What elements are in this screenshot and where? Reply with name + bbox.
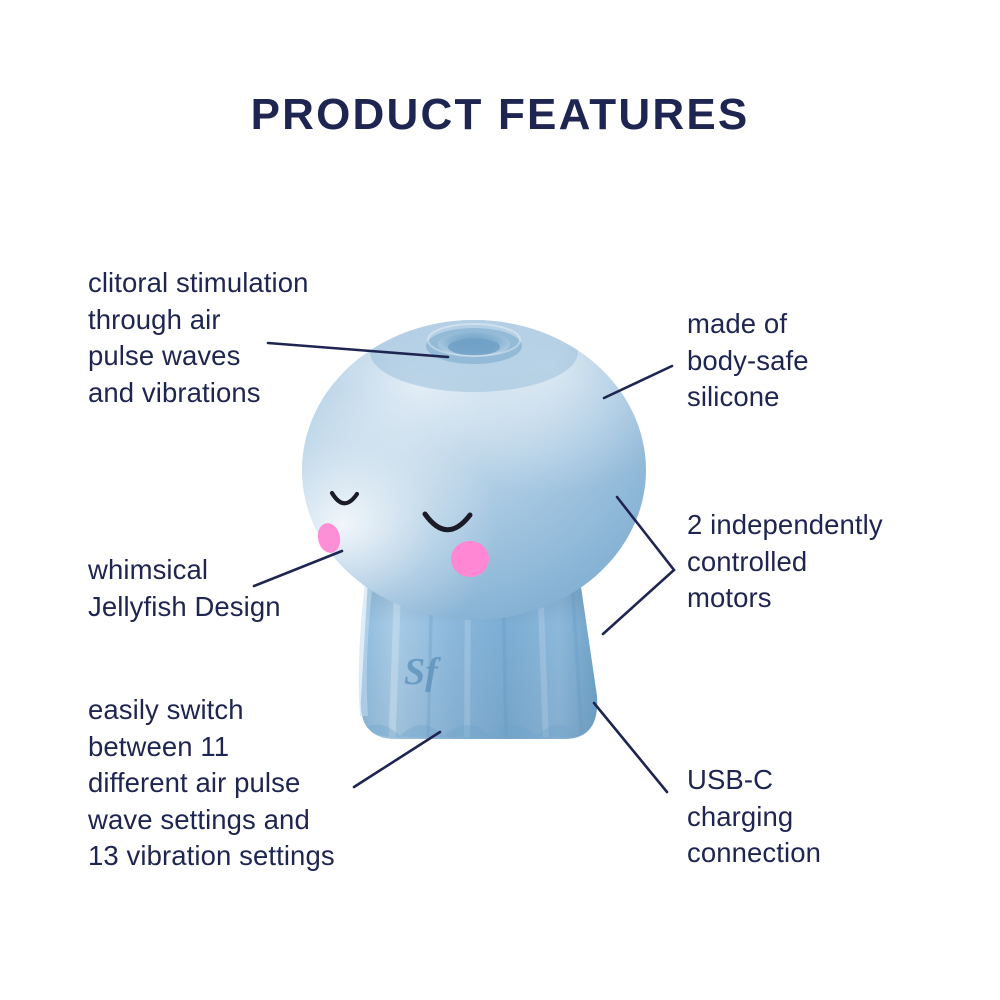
- feature-line: charging: [687, 799, 821, 836]
- brand-mark-sf: Sf: [404, 651, 441, 693]
- feature-line: 2 independently: [687, 507, 883, 544]
- air-pulse-nozzle: [426, 324, 522, 364]
- cheek-right: [451, 541, 489, 577]
- brand-mark-label: Sf: [404, 651, 441, 693]
- feature-line: made of: [687, 306, 809, 343]
- feature-line: and vibrations: [88, 375, 309, 412]
- feature-label-motors: 2 independently controlled motors: [687, 507, 883, 617]
- feature-line: wave settings and: [88, 802, 335, 839]
- feature-line: connection: [687, 835, 821, 872]
- feature-label-air-pulse: clitoral stimulation through air pulse w…: [88, 265, 309, 411]
- feature-line: Jellyfish Design: [88, 589, 281, 626]
- leader-line-settings: [354, 732, 440, 787]
- product-features-infographic: PRODUCT FEATURES: [0, 0, 1000, 1000]
- feature-line: through air: [88, 302, 309, 339]
- feature-line: pulse waves: [88, 338, 309, 375]
- feature-line: silicone: [687, 379, 809, 416]
- feature-line: whimsical: [88, 552, 281, 589]
- product-dome: [302, 312, 646, 620]
- feature-line: controlled: [687, 544, 883, 581]
- leader-line-silicone: [604, 366, 672, 398]
- feature-line: USB-C: [687, 762, 821, 799]
- leader-line-usbc: [594, 703, 667, 792]
- feature-line: 13 vibration settings: [88, 838, 335, 875]
- feature-line: motors: [687, 580, 883, 617]
- feature-label-whimsical-design: whimsical Jellyfish Design: [88, 552, 281, 625]
- feature-line: different air pulse: [88, 765, 335, 802]
- feature-line: clitoral stimulation: [88, 265, 309, 302]
- feature-label-silicone: made of body-safe silicone: [687, 306, 809, 416]
- feature-line: body-safe: [687, 343, 809, 380]
- feature-label-usbc: USB-C charging connection: [687, 762, 821, 872]
- feature-label-settings: easily switch between 11 different air p…: [88, 692, 335, 875]
- feature-line: easily switch: [88, 692, 335, 729]
- feature-line: between 11: [88, 729, 335, 766]
